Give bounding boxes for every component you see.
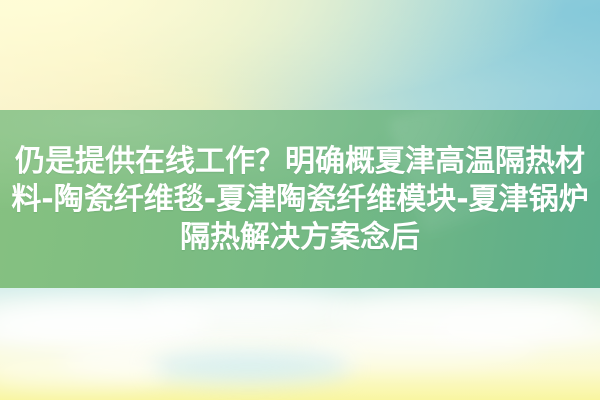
image-canvas: 仍是提供在线工作？明确概夏津高温隔热材料-陶瓷纤维毯-夏津陶瓷纤维模块-夏津锅炉… (0, 0, 600, 400)
headline-container: 仍是提供在线工作？明确概夏津高温隔热材料-陶瓷纤维毯-夏津陶瓷纤维模块-夏津锅炉… (0, 110, 600, 288)
banner-headline-text: 仍是提供在线工作？明确概夏津高温隔热材料-陶瓷纤维毯-夏津陶瓷纤维模块-夏津锅炉… (0, 143, 600, 257)
background-top-sheen (0, 0, 600, 118)
background-sky-area (0, 288, 600, 400)
